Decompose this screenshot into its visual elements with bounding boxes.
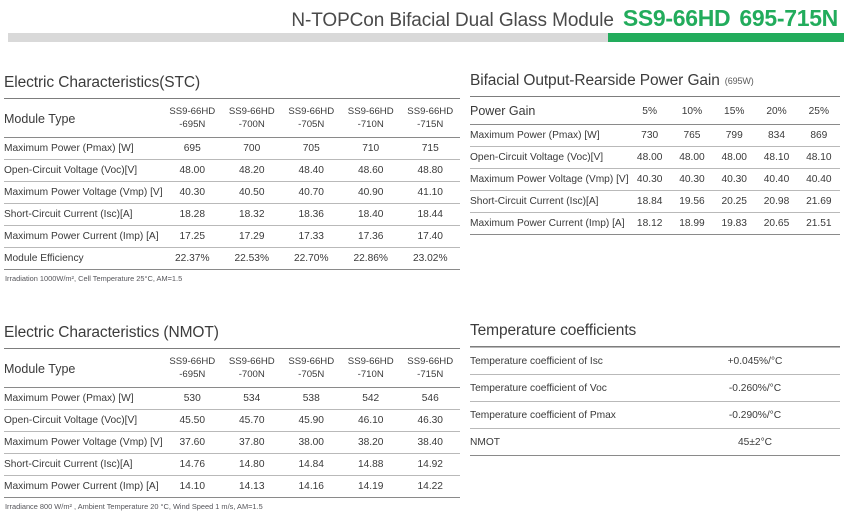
- cell-value: 40.70: [282, 182, 341, 204]
- product-category-title: N-TOPCon Bifacial Dual Glass Module: [291, 10, 613, 32]
- section-title-bifacial: Bifacial Output-Rearside Power Gain(695W…: [470, 72, 840, 96]
- cell-value: 45.90: [282, 410, 341, 432]
- column-header-2-line1: SS9-66HD: [288, 356, 334, 367]
- cell-value: 14.80: [222, 454, 281, 476]
- cell-value: 17.29: [222, 226, 281, 248]
- row-label: Temperature coefficient of Isc: [470, 348, 670, 375]
- cell-value: 834: [755, 125, 797, 147]
- cell-value: 48.40: [282, 160, 341, 182]
- cell-value: 18.12: [629, 213, 671, 235]
- column-header-2-line2: -705N: [282, 119, 341, 132]
- cell-value: 705: [282, 138, 341, 160]
- cell-value: 40.30: [671, 169, 713, 191]
- table-row: Short-Circuit Current (Isc)[A] 14.76 14.…: [4, 454, 460, 476]
- column-header-1: 10%: [671, 97, 713, 125]
- column-header-4: SS9-66HD -715N: [400, 99, 460, 138]
- cell-value: 37.60: [163, 432, 222, 454]
- section-title-nmot: Electric Characteristics (NMOT): [4, 324, 460, 348]
- cell-value: 17.40: [400, 226, 460, 248]
- column-header-2-line2: -705N: [282, 369, 341, 382]
- cell-value: 14.88: [341, 454, 400, 476]
- cell-value: 38.00: [282, 432, 341, 454]
- cell-value: 40.30: [163, 182, 222, 204]
- cell-value: 538: [282, 388, 341, 410]
- section-title-stc: Electric Characteristics(STC): [4, 74, 460, 98]
- cell-value: 20.98: [755, 191, 797, 213]
- section-electric-characteristics-stc: Electric Characteristics(STC) Module Typ…: [4, 74, 460, 283]
- row-label: Short-Circuit Current (Isc)[A]: [4, 454, 163, 476]
- column-header-3-line2: -710N: [341, 369, 400, 382]
- cell-value: 19.56: [671, 191, 713, 213]
- table-row: Short-Circuit Current (Isc)[A] 18.84 19.…: [470, 191, 840, 213]
- cell-value: 18.28: [163, 204, 222, 226]
- table-row: Temperature coefficient of Pmax -0.290%/…: [470, 402, 840, 429]
- column-header-1-line1: SS9-66HD: [229, 106, 275, 117]
- table-row: Open-Circuit Voltage (Voc)[V] 45.50 45.7…: [4, 410, 460, 432]
- cell-value: 41.10: [400, 182, 460, 204]
- cell-value: 765: [671, 125, 713, 147]
- column-header-4-line2: -715N: [400, 369, 460, 382]
- column-header-0-line1: SS9-66HD: [169, 356, 215, 367]
- cell-value: 14.22: [400, 476, 460, 498]
- table-row: Maximum Power (Pmax) [W] 730 765 799 834…: [470, 125, 840, 147]
- footnote-stc: Irradiation 1000W/m², Cell Temperature 2…: [4, 274, 460, 283]
- cell-value: 48.60: [341, 160, 400, 182]
- cell-value: 695: [163, 138, 222, 160]
- cell-value: 14.16: [282, 476, 341, 498]
- cell-value: 17.36: [341, 226, 400, 248]
- row-label: Short-Circuit Current (Isc)[A]: [4, 204, 163, 226]
- cell-value: 21.51: [798, 213, 840, 235]
- row-label: Maximum Power Current (Imp) [A]: [4, 476, 163, 498]
- column-header-2: 15%: [713, 97, 755, 125]
- section-title-temperature: Temperature coefficients: [470, 322, 840, 346]
- cell-value: 48.80: [400, 160, 460, 182]
- cell-value: -0.260%/°C: [670, 375, 840, 402]
- table-row: Maximum Power (Pmax) [W] 695 700 705 710…: [4, 138, 460, 160]
- cell-value: 18.40: [341, 204, 400, 226]
- cell-value: 22.86%: [341, 248, 400, 270]
- cell-value: 40.90: [341, 182, 400, 204]
- row-label: Maximum Power Voltage (Vmp) [V]: [470, 169, 629, 191]
- cell-value: 19.83: [713, 213, 755, 235]
- cell-value: 48.00: [671, 147, 713, 169]
- row-label: Maximum Power (Pmax) [W]: [4, 138, 163, 160]
- cell-value: 46.30: [400, 410, 460, 432]
- table-temperature: Temperature coefficient of Isc +0.045%/°…: [470, 347, 840, 456]
- table-row: Maximum Power Current (Imp) [A] 18.12 18…: [470, 213, 840, 235]
- cell-value: 40.40: [755, 169, 797, 191]
- section-title-bifacial-text: Bifacial Output-Rearside Power Gain: [470, 72, 720, 89]
- table-bifacial: Power Gain 5% 10% 15% 20% 25% Maximum Po…: [470, 97, 840, 235]
- table-row: Maximum Power Voltage (Vmp) [V] 37.60 37…: [4, 432, 460, 454]
- cell-value: 20.65: [755, 213, 797, 235]
- table-row: Short-Circuit Current (Isc)[A] 18.28 18.…: [4, 204, 460, 226]
- cell-value: 37.80: [222, 432, 281, 454]
- cell-value: 546: [400, 388, 460, 410]
- row-label: Open-Circuit Voltage (Voc)[V]: [4, 410, 163, 432]
- cell-value: 869: [798, 125, 840, 147]
- row-label: NMOT: [470, 429, 670, 456]
- table-row: Module Efficiency 22.37% 22.53% 22.70% 2…: [4, 248, 460, 270]
- cell-value: 22.37%: [163, 248, 222, 270]
- cell-value: 21.69: [798, 191, 840, 213]
- cell-value: 38.40: [400, 432, 460, 454]
- column-header-3-line1: SS9-66HD: [348, 356, 394, 367]
- cell-value: 18.84: [629, 191, 671, 213]
- header-title-row: N-TOPCon Bifacial Dual Glass Module SS9-…: [291, 5, 838, 32]
- header-module-type: Module Type: [4, 99, 163, 138]
- cell-value: +0.045%/°C: [670, 348, 840, 375]
- table-row: Temperature coefficient of Voc -0.260%/°…: [470, 375, 840, 402]
- cell-value: 17.33: [282, 226, 341, 248]
- table-stc: Module Type SS9-66HD -695N SS9-66HD -700…: [4, 99, 460, 270]
- cell-value: 38.20: [341, 432, 400, 454]
- table-row: Maximum Power Current (Imp) [A] 14.10 14…: [4, 476, 460, 498]
- cell-value: 48.10: [798, 147, 840, 169]
- cell-value: 14.84: [282, 454, 341, 476]
- column-header-4-line1: SS9-66HD: [407, 356, 453, 367]
- table-row: Temperature coefficient of Isc +0.045%/°…: [470, 348, 840, 375]
- row-label: Open-Circuit Voltage (Voc)[V]: [4, 160, 163, 182]
- section-title-bifacial-suffix: (695W): [725, 76, 754, 86]
- cell-value: 45.70: [222, 410, 281, 432]
- cell-value: 530: [163, 388, 222, 410]
- table-header-row: Module Type SS9-66HD -695N SS9-66HD -700…: [4, 349, 460, 388]
- column-header-1: SS9-66HD -700N: [222, 99, 281, 138]
- section-bifacial-output: Bifacial Output-Rearside Power Gain(695W…: [470, 72, 840, 235]
- cell-value: 14.10: [163, 476, 222, 498]
- cell-value: 14.92: [400, 454, 460, 476]
- footnote-nmot: Irradiance 800 W/m² , Ambient Temperatur…: [4, 502, 460, 511]
- row-label: Temperature coefficient of Pmax: [470, 402, 670, 429]
- row-label: Maximum Power Voltage (Vmp) [V]: [4, 432, 163, 454]
- product-model: SS9-66HD: [623, 5, 731, 32]
- table-row: NMOT 45±2°C: [470, 429, 840, 456]
- table-row: Open-Circuit Voltage (Voc)[V] 48.00 48.2…: [4, 160, 460, 182]
- column-header-1-line2: -700N: [222, 119, 281, 132]
- column-header-0: 5%: [629, 97, 671, 125]
- cell-value: 542: [341, 388, 400, 410]
- row-label: Module Efficiency: [4, 248, 163, 270]
- column-header-1: SS9-66HD -700N: [222, 349, 281, 388]
- row-label: Maximum Power Current (Imp) [A]: [4, 226, 163, 248]
- row-label: Short-Circuit Current (Isc)[A]: [470, 191, 629, 213]
- header-grey-bar: [8, 33, 608, 42]
- column-header-3-line2: -710N: [341, 119, 400, 132]
- cell-value: 18.44: [400, 204, 460, 226]
- cell-value: 48.20: [222, 160, 281, 182]
- cell-value: 710: [341, 138, 400, 160]
- table-header-row: Power Gain 5% 10% 15% 20% 25%: [470, 97, 840, 125]
- column-header-0-line2: -695N: [163, 369, 222, 382]
- cell-value: 14.76: [163, 454, 222, 476]
- row-label: Maximum Power Current (Imp) [A]: [470, 213, 629, 235]
- cell-value: 48.00: [163, 160, 222, 182]
- row-label: Temperature coefficient of Voc: [470, 375, 670, 402]
- cell-value: 40.40: [798, 169, 840, 191]
- header-module-type: Module Type: [4, 349, 163, 388]
- cell-value: 18.32: [222, 204, 281, 226]
- cell-value: 22.70%: [282, 248, 341, 270]
- cell-value: 48.00: [629, 147, 671, 169]
- cell-value: 20.25: [713, 191, 755, 213]
- product-power-range: 695-715N: [739, 5, 838, 32]
- column-header-1-line1: SS9-66HD: [229, 356, 275, 367]
- column-header-0: SS9-66HD -695N: [163, 349, 222, 388]
- cell-value: 17.25: [163, 226, 222, 248]
- row-label: Open-Circuit Voltage (Voc)[V]: [470, 147, 629, 169]
- column-header-4-line2: -715N: [400, 119, 460, 132]
- cell-value: 18.99: [671, 213, 713, 235]
- cell-value: 48.00: [713, 147, 755, 169]
- column-header-2: SS9-66HD -705N: [282, 99, 341, 138]
- row-label: Maximum Power Voltage (Vmp) [V]: [4, 182, 163, 204]
- table-row: Maximum Power Voltage (Vmp) [V] 40.30 40…: [470, 169, 840, 191]
- table-row: Maximum Power Voltage (Vmp) [V] 40.30 40…: [4, 182, 460, 204]
- column-header-1-line2: -700N: [222, 369, 281, 382]
- column-header-0: SS9-66HD -695N: [163, 99, 222, 138]
- column-header-4: 25%: [798, 97, 840, 125]
- table-row: Maximum Power Current (Imp) [A] 17.25 17…: [4, 226, 460, 248]
- cell-value: 23.02%: [400, 248, 460, 270]
- cell-value: 46.10: [341, 410, 400, 432]
- column-header-2: SS9-66HD -705N: [282, 349, 341, 388]
- column-header-3: 20%: [755, 97, 797, 125]
- section-temperature-coefficients: Temperature coefficients Temperature coe…: [470, 322, 840, 456]
- cell-value: 799: [713, 125, 755, 147]
- cell-value: 22.53%: [222, 248, 281, 270]
- cell-value: -0.290%/°C: [670, 402, 840, 429]
- cell-value: 534: [222, 388, 281, 410]
- cell-value: 730: [629, 125, 671, 147]
- cell-value: 45±2°C: [670, 429, 840, 456]
- cell-value: 40.30: [629, 169, 671, 191]
- cell-value: 700: [222, 138, 281, 160]
- table-header-row: Module Type SS9-66HD -695N SS9-66HD -700…: [4, 99, 460, 138]
- column-header-2-line1: SS9-66HD: [288, 106, 334, 117]
- column-header-3-line1: SS9-66HD: [348, 106, 394, 117]
- row-label: Maximum Power (Pmax) [W]: [470, 125, 629, 147]
- column-header-4: SS9-66HD -715N: [400, 349, 460, 388]
- column-header-0-line2: -695N: [163, 119, 222, 132]
- table-nmot: Module Type SS9-66HD -695N SS9-66HD -700…: [4, 349, 460, 498]
- cell-value: 48.10: [755, 147, 797, 169]
- header-power-gain: Power Gain: [470, 97, 629, 125]
- cell-value: 14.13: [222, 476, 281, 498]
- column-header-3: SS9-66HD -710N: [341, 99, 400, 138]
- table-row: Maximum Power (Pmax) [W] 530 534 538 542…: [4, 388, 460, 410]
- cell-value: 40.30: [713, 169, 755, 191]
- cell-value: 45.50: [163, 410, 222, 432]
- section-electric-characteristics-nmot: Electric Characteristics (NMOT) Module T…: [4, 324, 460, 511]
- column-header-4-line1: SS9-66HD: [407, 106, 453, 117]
- row-label: Maximum Power (Pmax) [W]: [4, 388, 163, 410]
- table-row: Open-Circuit Voltage (Voc)[V] 48.00 48.0…: [470, 147, 840, 169]
- cell-value: 40.50: [222, 182, 281, 204]
- column-header-3: SS9-66HD -710N: [341, 349, 400, 388]
- column-header-0-line1: SS9-66HD: [169, 106, 215, 117]
- header-green-bar: [608, 33, 844, 42]
- cell-value: 18.36: [282, 204, 341, 226]
- cell-value: 14.19: [341, 476, 400, 498]
- cell-value: 715: [400, 138, 460, 160]
- page-header: N-TOPCon Bifacial Dual Glass Module SS9-…: [0, 0, 844, 48]
